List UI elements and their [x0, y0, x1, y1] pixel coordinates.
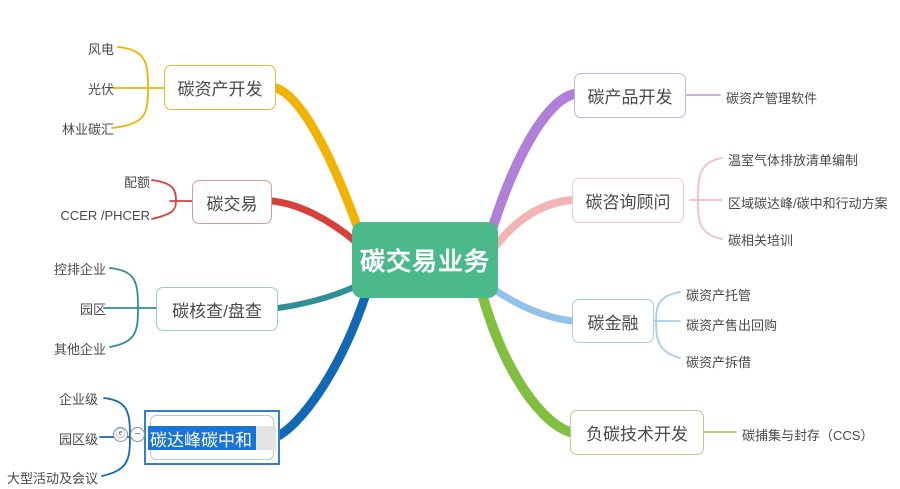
node-carbon-finance[interactable]: 碳金融	[572, 299, 654, 343]
leaf-large-events-and-conferences[interactable]: 大型活动及会议	[0, 468, 98, 487]
branch-line-negative-carbon	[482, 294, 570, 432]
node-label: 碳资产开发	[178, 75, 263, 100]
leaf-forestry-carbon-sink[interactable]: 林业碳汇	[8, 119, 114, 138]
leaf-carbon-related-training[interactable]: 碳相关培训	[728, 230, 793, 249]
node-carbon-trading[interactable]: 碳交易	[192, 180, 272, 224]
node-label: 碳金融	[588, 309, 639, 334]
branch-line-carbon-asset	[276, 88, 360, 234]
collapse-circle-glyph: ⓔ	[114, 428, 127, 441]
leaf-enterprise-level[interactable]: 企业级	[6, 389, 98, 408]
leaf-brace-carbon-asset	[112, 47, 148, 128]
branch-line-carbon-finance	[492, 288, 572, 321]
branch-line-carbon-consulting	[494, 200, 572, 248]
branch-line-carbon-peak-neutral	[276, 294, 366, 437]
node-carbon-product-development[interactable]: 碳产品开发	[574, 73, 686, 118]
leaf-carbon-asset-sale-repurchase[interactable]: 碳资产售出回购	[686, 315, 777, 334]
leaf-wind-power[interactable]: 风电	[18, 39, 114, 58]
leaf-brace-carbon-consulting	[698, 158, 722, 239]
mindmap-canvas: 碳交易业务 碳资产开发 碳交易 碳核查/盘查 碳达峰碳中和 ⓔ − 碳产品开发 …	[0, 0, 900, 489]
leaf-brace-carbon-trading	[152, 180, 176, 219]
leaf-brace-carbon-finance	[656, 292, 680, 358]
leaf-other-enterprises[interactable]: 其他企业	[14, 339, 106, 358]
node-label: 碳达峰碳中和	[150, 426, 252, 451]
branch-line-carbon-product	[490, 94, 574, 236]
node-label: 碳产品开发	[588, 83, 673, 108]
center-node[interactable]: 碳交易业务	[352, 222, 498, 298]
node-label: 碳核查/盘查	[172, 297, 262, 322]
leaf-ccer-phcer[interactable]: CCER /PHCER	[26, 208, 150, 223]
leaf-carbon-asset-custody[interactable]: 碳资产托管	[686, 285, 751, 304]
leaf-carbon-capture-and-storage[interactable]: 碳捕集与封存（CCS）	[742, 425, 873, 444]
minus-circle-glyph: −	[131, 428, 144, 441]
node-label: 碳咨询顾问	[586, 188, 671, 213]
leaf-quota[interactable]: 配额	[60, 172, 150, 191]
minus-circle-icon[interactable]: −	[130, 427, 145, 442]
node-edit-text-selection[interactable]: 碳达峰碳中和	[148, 426, 256, 450]
node-carbon-peak-neutral[interactable]: 碳达峰碳中和	[144, 410, 280, 465]
node-negative-carbon-technology[interactable]: 负碳技术开发	[570, 410, 704, 455]
collapse-circle-icon[interactable]: ⓔ	[113, 427, 128, 442]
branch-line-carbon-verification	[278, 287, 354, 308]
node-carbon-asset-development[interactable]: 碳资产开发	[164, 65, 276, 110]
leaf-park-level[interactable]: 园区级	[6, 429, 98, 448]
branch-line-carbon-trading	[272, 201, 356, 242]
leaf-industrial-park[interactable]: 园区	[14, 299, 106, 318]
node-label: 负碳技术开发	[586, 420, 688, 445]
leaf-controlled-emission-enterprises[interactable]: 控排企业	[14, 259, 106, 278]
node-carbon-verification[interactable]: 碳核查/盘查	[156, 287, 278, 331]
node-carbon-consulting[interactable]: 碳咨询顾问	[572, 178, 684, 223]
center-node-label: 碳交易业务	[360, 242, 490, 278]
leaf-brace-carbon-verification	[110, 268, 138, 347]
leaf-regional-peak-neutral-action-plan[interactable]: 区域碳达峰/碳中和行动方案	[728, 193, 888, 212]
node-label: 碳交易	[207, 190, 258, 215]
leaf-carbon-asset-lending[interactable]: 碳资产拆借	[686, 352, 751, 371]
leaf-carbon-asset-management-software[interactable]: 碳资产管理软件	[726, 88, 817, 107]
leaf-photovoltaic[interactable]: 光伏	[18, 79, 114, 98]
leaf-ghg-emission-inventory[interactable]: 温室气体排放清单编制	[728, 150, 858, 169]
